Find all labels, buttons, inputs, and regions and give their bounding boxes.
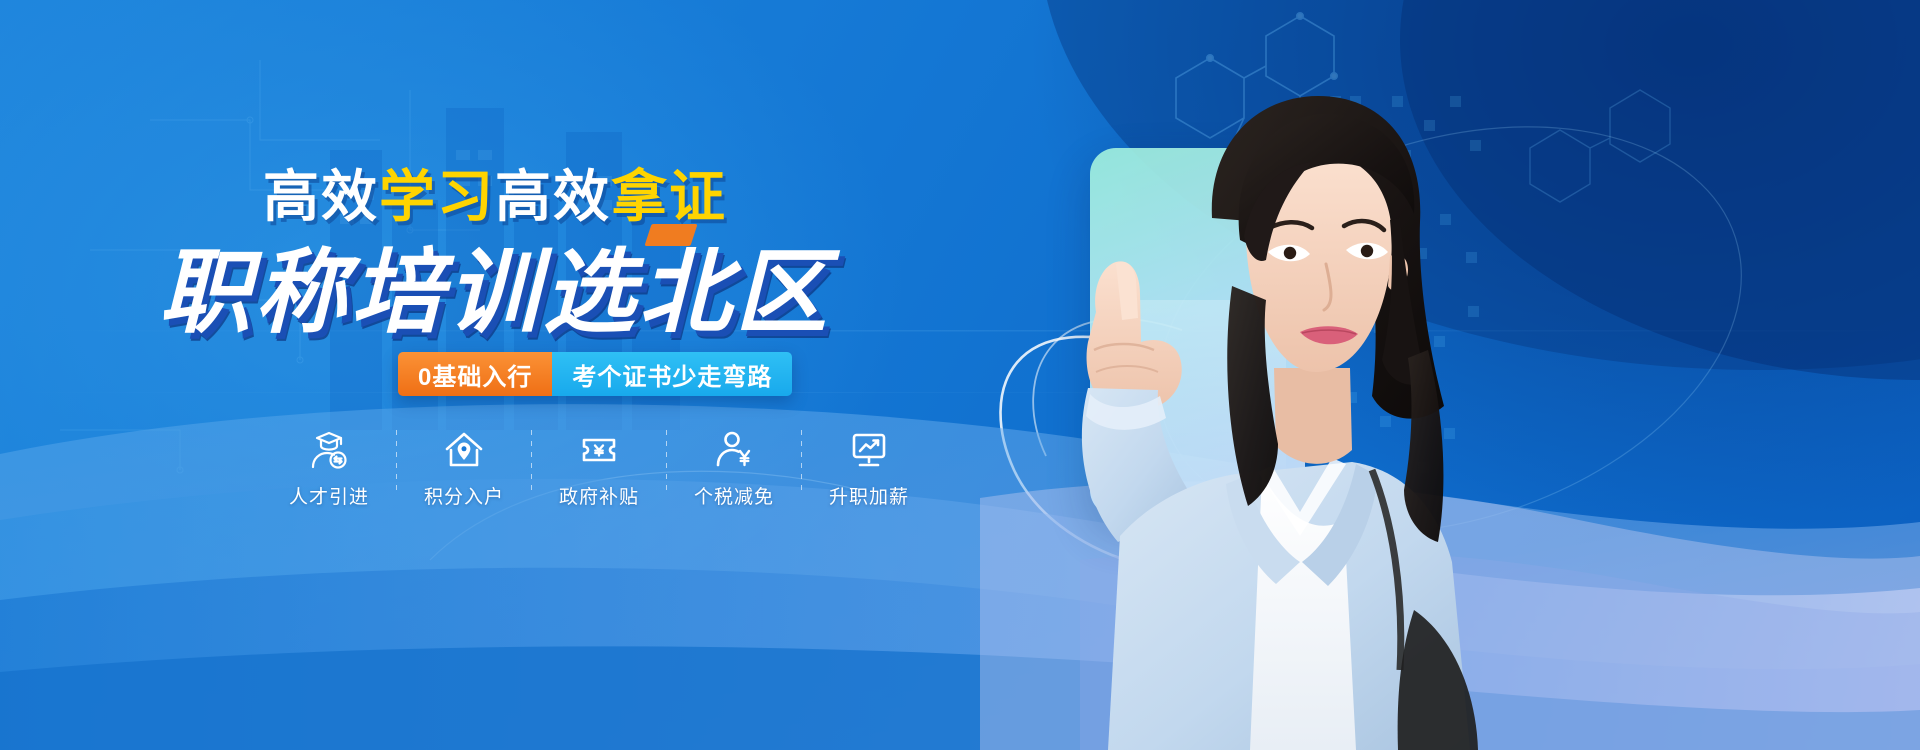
promo-banner: 高效学习高效拿证 职称培训选北区 0基础入行 考个证书少走弯路 (0, 0, 1920, 750)
feature-label: 个税减免 (694, 482, 774, 509)
feature-item-talent-introduction[interactable]: 人才引进 (262, 428, 396, 509)
background-decor (0, 0, 1920, 750)
headline-main: 职称培训选北区 (0, 218, 990, 351)
feature-label: 人才引进 (289, 482, 369, 509)
ticket-yuan-icon (577, 428, 621, 472)
tag-secondary[interactable]: 考个证书少走弯路 (552, 352, 792, 396)
chart-board-icon (847, 428, 891, 472)
graduate-person-icon (307, 428, 351, 472)
feature-label: 升职加薪 (829, 482, 909, 509)
person-yuan-icon (712, 428, 756, 472)
neck (1274, 368, 1352, 464)
feature-item-promotion-raise[interactable]: 升职加薪 (802, 428, 936, 509)
feature-label: 政府补贴 (559, 482, 639, 509)
feature-list: 人才引进 积分入户 (262, 428, 936, 509)
feature-item-points-residence[interactable]: 积分入户 (397, 428, 531, 509)
house-pin-icon (442, 428, 486, 472)
background-pattern-svg (0, 0, 1920, 750)
orange-slash-accent (644, 224, 697, 246)
tag-primary[interactable]: 0基础入行 (398, 352, 552, 396)
feature-item-government-subsidy[interactable]: 政府补贴 (532, 428, 666, 509)
feature-item-tax-reduction[interactable]: 个税减免 (667, 428, 801, 509)
presenter-photo (1000, 50, 1520, 750)
tagline-badges: 0基础入行 考个证书少走弯路 (398, 352, 792, 396)
feature-label: 积分入户 (424, 482, 504, 509)
